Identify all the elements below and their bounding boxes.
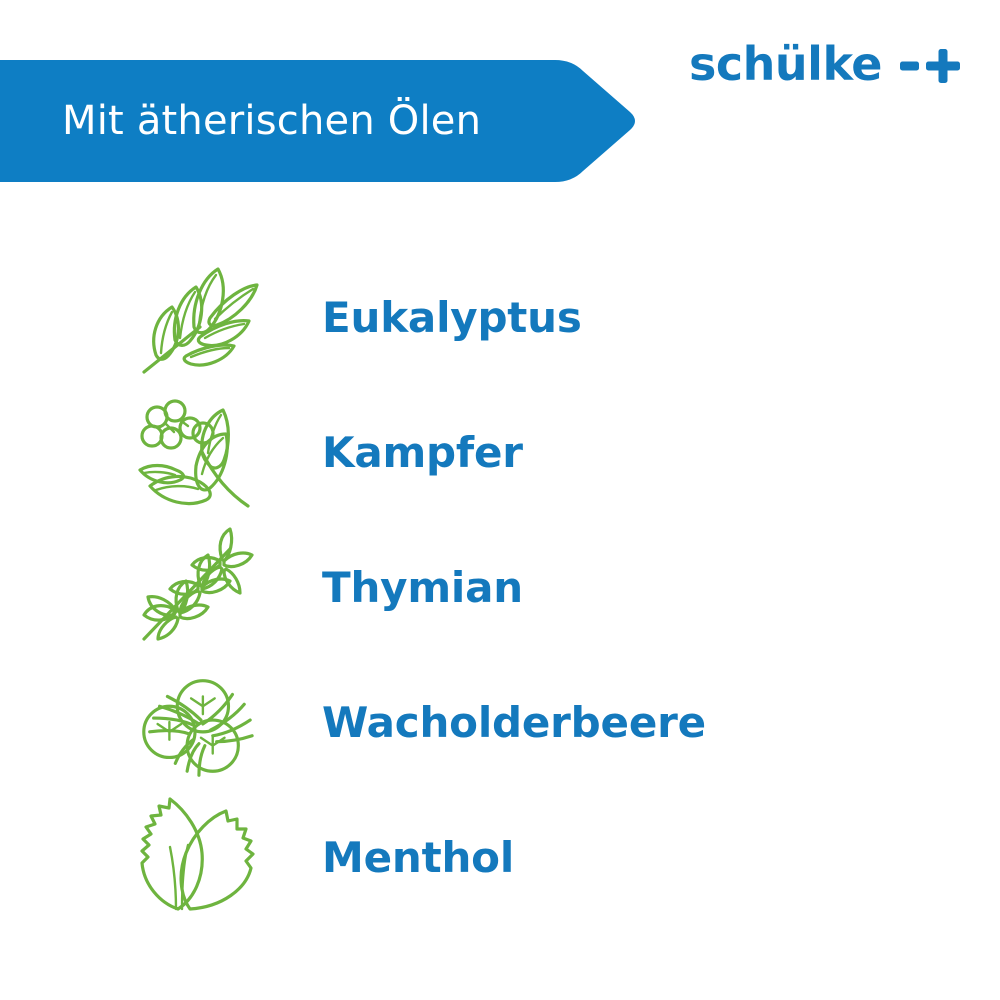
eucalyptus-icon (130, 255, 260, 381)
camphor-icon (130, 390, 260, 516)
brand-logo: schülke (689, 36, 962, 92)
banner-title: Mit ätherischen Ölen (62, 60, 481, 182)
ingredient-label: Wacholderbeere (322, 698, 706, 747)
ingredient-label: Menthol (322, 833, 514, 882)
ingredient-list: Eukalyptus (0, 250, 1000, 925)
poster-canvas: schülke Mit ätherischen Ölen (0, 0, 1000, 1000)
brand-wordmark: schülke (689, 41, 882, 87)
list-item: Menthol (0, 790, 1000, 925)
thyme-icon (130, 525, 260, 651)
ingredient-label: Thymian (322, 563, 523, 612)
minus-plus-icon (900, 46, 962, 86)
ingredient-label: Kampfer (322, 428, 523, 477)
list-item: Kampfer (0, 385, 1000, 520)
list-item: Eukalyptus (0, 250, 1000, 385)
ingredient-label: Eukalyptus (322, 293, 582, 342)
list-item: Wacholderbeere (0, 655, 1000, 790)
juniper-berry-icon (130, 660, 260, 786)
list-item: Thymian (0, 520, 1000, 655)
headline-banner: Mit ätherischen Ölen (0, 60, 640, 182)
mint-leaf-icon (130, 795, 260, 921)
